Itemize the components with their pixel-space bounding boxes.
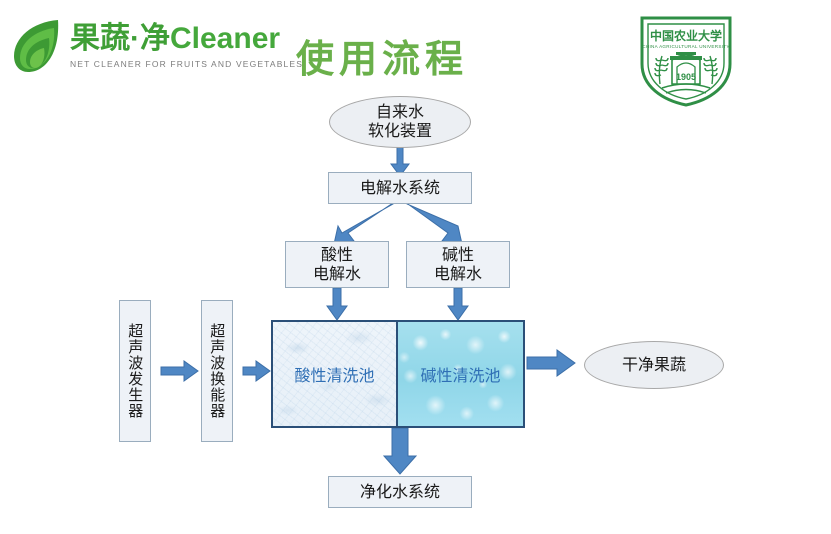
brand-title-dot: · bbox=[130, 22, 140, 55]
university-name-cn: 中国农业大学 bbox=[650, 28, 722, 43]
tank-label-alkaline: 碱性清洗池 bbox=[420, 362, 500, 386]
brand-title-en: Cleaner bbox=[170, 22, 280, 55]
arrow-tank-to-purified-water bbox=[384, 428, 416, 474]
node-label: 酸性 电解水 bbox=[313, 246, 361, 284]
university-name-en: CHINA AGRICULTURAL UNIVERSITY bbox=[642, 44, 730, 49]
arrow-alkaline-water-to-tank bbox=[448, 288, 468, 320]
node-label: 超声波换能器 bbox=[209, 323, 226, 419]
node-ultrasonic-transducer[interactable]: 超声波换能器 bbox=[201, 300, 233, 442]
brand-logo: 果蔬·净Cleaner NET CLEANER FOR FRUITS AND V… bbox=[12, 18, 303, 74]
brand-text-block: 果蔬·净Cleaner NET CLEANER FOR FRUITS AND V… bbox=[70, 23, 303, 69]
university-logo: 中国农业大学 CHINA AGRICULTURAL UNIVERSITY 190… bbox=[632, 12, 740, 108]
tank-label-acidic: 酸性清洗池 bbox=[294, 362, 374, 386]
node-clean-produce[interactable]: 干净果蔬 bbox=[584, 341, 724, 389]
node-alkaline-water[interactable]: 碱性 电解水 bbox=[406, 241, 510, 288]
node-label: 碱性 电解水 bbox=[434, 246, 482, 284]
university-founding-year: 1905 bbox=[676, 72, 696, 82]
slide-canvas: 果蔬·净Cleaner NET CLEANER FOR FRUITS AND V… bbox=[0, 0, 831, 534]
brand-title: 果蔬·净Cleaner bbox=[70, 23, 303, 55]
arrow-tank-to-clean-produce bbox=[527, 350, 575, 376]
page-title: 使用流程 bbox=[296, 28, 468, 83]
washing-tank[interactable]: 酸性清洗池 碱性清洗池 bbox=[271, 320, 525, 428]
arrow-electrolysis-to-acidic bbox=[334, 199, 399, 244]
brand-subtitle: NET CLEANER FOR FRUITS AND VEGETABLES bbox=[70, 59, 303, 69]
arrow-generator-to-transducer bbox=[161, 361, 198, 381]
leaf-icon bbox=[12, 18, 64, 74]
brand-title-cn: 果蔬 bbox=[70, 22, 130, 55]
node-label: 电解水系统 bbox=[360, 179, 440, 198]
tank-half-alkaline[interactable]: 碱性清洗池 bbox=[398, 322, 523, 426]
node-label: 干净果蔬 bbox=[622, 356, 686, 375]
node-label: 超声波发生器 bbox=[127, 323, 144, 419]
tank-half-acidic[interactable]: 酸性清洗池 bbox=[273, 322, 398, 426]
arrow-transducer-to-tank bbox=[243, 361, 270, 381]
node-label: 自来水 软化装置 bbox=[368, 103, 432, 141]
node-label: 净化水系统 bbox=[360, 483, 440, 502]
node-ultrasonic-generator[interactable]: 超声波发生器 bbox=[119, 300, 151, 442]
brand-title-cn2: 净 bbox=[140, 22, 170, 55]
arrow-acidic-water-to-tank bbox=[327, 288, 347, 320]
node-water-softener[interactable]: 自来水 软化装置 bbox=[329, 96, 471, 148]
node-electrolysis-system[interactable]: 电解水系统 bbox=[328, 172, 472, 204]
arrow-electrolysis-to-alkaline bbox=[401, 199, 462, 244]
node-purified-water-system[interactable]: 净化水系统 bbox=[328, 476, 472, 508]
node-acidic-water[interactable]: 酸性 电解水 bbox=[285, 241, 389, 288]
